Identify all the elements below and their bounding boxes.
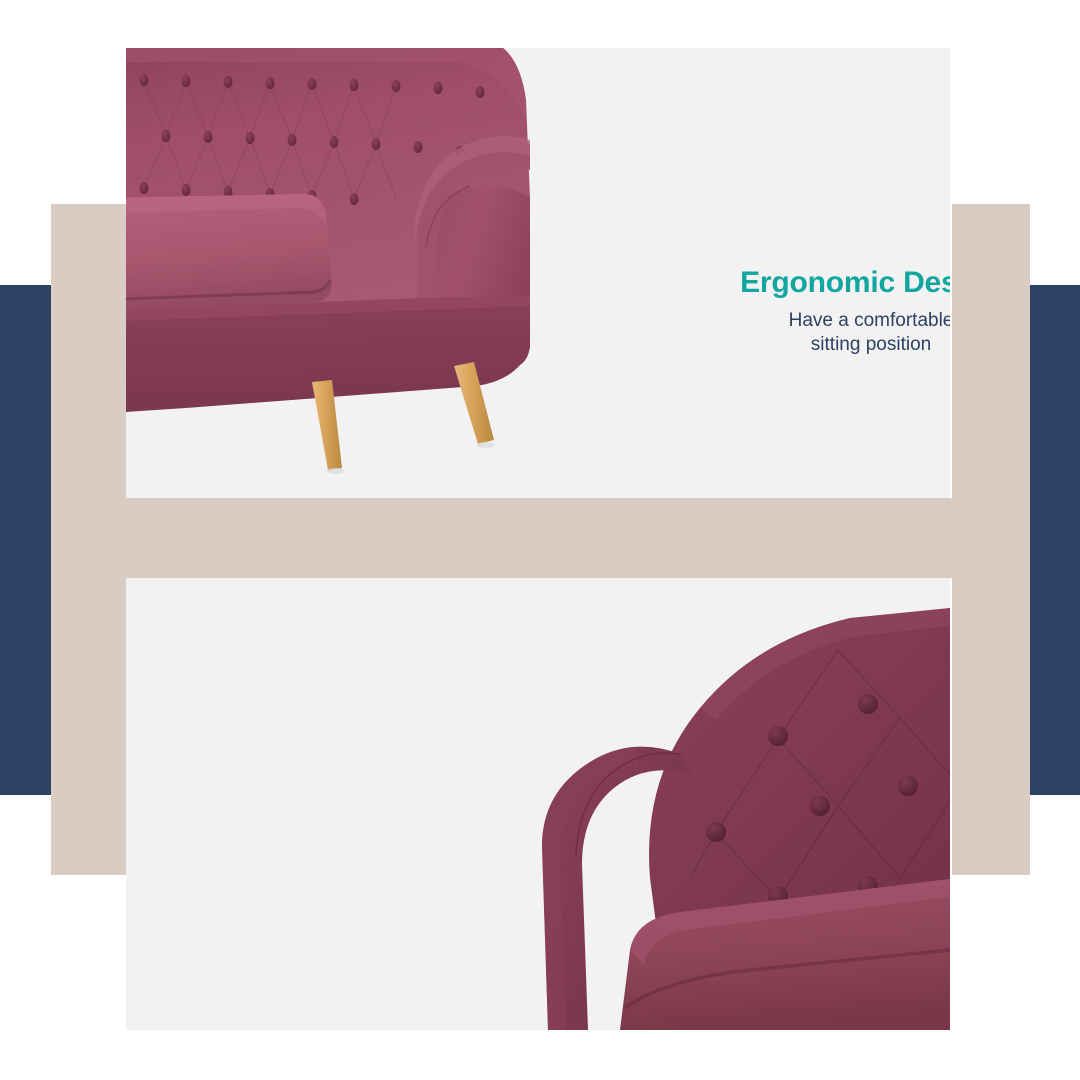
feature-panel-attention-on-detail: Attention on detail Fabric buckle button… xyxy=(126,578,950,1030)
decorative-band-beige-middle xyxy=(51,498,1030,578)
decorative-band-navy-left xyxy=(0,285,51,795)
infographic-canvas: Ergonomic Design Have a comfortable sitt… xyxy=(0,0,1080,1080)
sofa-side-view-image xyxy=(126,48,546,498)
feature-text-ergonomic-design: Ergonomic Design Have a comfortable sitt… xyxy=(666,266,950,358)
feature-title: Ergonomic Design xyxy=(666,266,950,299)
sofa-closeup-image xyxy=(520,578,950,1030)
feature-panel-ergonomic-design: Ergonomic Design Have a comfortable sitt… xyxy=(126,48,950,498)
decorative-band-beige-right xyxy=(952,204,1030,875)
decorative-band-navy-right xyxy=(1030,285,1080,795)
feature-description-line-2: sitting position xyxy=(811,334,931,355)
decorative-band-beige-left xyxy=(51,204,128,875)
feature-description-line-1: Have a comfortable xyxy=(789,310,950,331)
feature-description: Have a comfortable sitting position xyxy=(666,309,950,358)
